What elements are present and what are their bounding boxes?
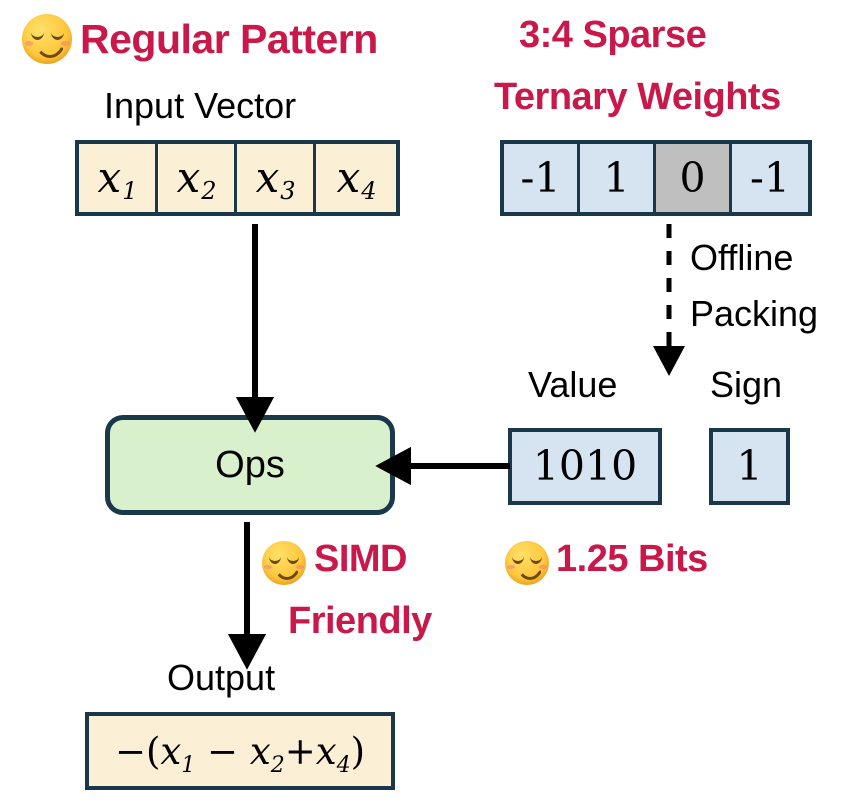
weight-cell-1-text: 1 xyxy=(603,158,629,199)
simd-badge xyxy=(262,541,306,585)
offline-packing-label-line2: Packing xyxy=(690,293,818,335)
weight-cell-1: 1 xyxy=(580,144,656,212)
sparse-heading-line1: 3:4 Sparse xyxy=(519,14,706,57)
input-cell-x4: x4 xyxy=(316,144,396,212)
sign-box-text: 1 xyxy=(736,446,762,487)
ops-node: Ops xyxy=(105,415,395,515)
output-label: Output xyxy=(167,657,275,699)
weight-cell-3: -1 xyxy=(732,144,808,212)
smiley-face-icon xyxy=(505,541,549,585)
ternary-weights-strip: -1 1 0 -1 xyxy=(500,140,812,216)
input-cell-x2: x2 xyxy=(158,144,237,212)
input-cell-x4-text: x4 xyxy=(337,157,376,199)
regular-pattern-badge xyxy=(22,14,72,64)
smiley-face-icon xyxy=(22,14,72,64)
weight-cell-2-text: 0 xyxy=(679,158,705,199)
simd-label-line1: SIMD xyxy=(314,538,407,581)
weight-cell-2: 0 xyxy=(656,144,732,212)
input-cell-x3: x3 xyxy=(237,144,316,212)
sign-box: 1 xyxy=(709,428,790,505)
input-cell-x1: x1 xyxy=(79,144,158,212)
weight-cell-0-text: -1 xyxy=(521,158,561,199)
sign-label: Sign xyxy=(710,364,782,406)
output-formula: −(x1 − x2+x4) xyxy=(115,733,365,770)
input-vector-strip: x1 x2 x3 x4 xyxy=(75,140,400,216)
input-cell-x1-text: x1 xyxy=(98,157,137,199)
value-box: 1010 xyxy=(508,428,662,505)
bits-badge xyxy=(505,541,549,585)
weight-cell-3-text: -1 xyxy=(750,158,790,199)
simd-label-line2: Friendly xyxy=(288,600,432,643)
input-cell-x3-text: x3 xyxy=(256,157,295,199)
input-cell-x2-text: x2 xyxy=(177,157,216,199)
output-box: −(x1 − x2+x4) xyxy=(85,712,395,790)
diagram-canvas: Regular Pattern 3:4 Sparse Ternary Weigh… xyxy=(0,0,860,810)
weight-cell-0: -1 xyxy=(504,144,580,212)
offline-packing-label-line1: Offline xyxy=(690,237,793,279)
bits-label: 1.25 Bits xyxy=(556,538,708,581)
sparse-heading-line2: Ternary Weights xyxy=(494,76,781,119)
regular-pattern-label: Regular Pattern xyxy=(80,16,378,63)
value-label: Value xyxy=(528,364,617,406)
value-box-text: 1010 xyxy=(533,446,637,487)
input-vector-label: Input Vector xyxy=(104,85,296,127)
smiley-face-icon xyxy=(262,541,306,585)
ops-node-label: Ops xyxy=(215,444,285,487)
